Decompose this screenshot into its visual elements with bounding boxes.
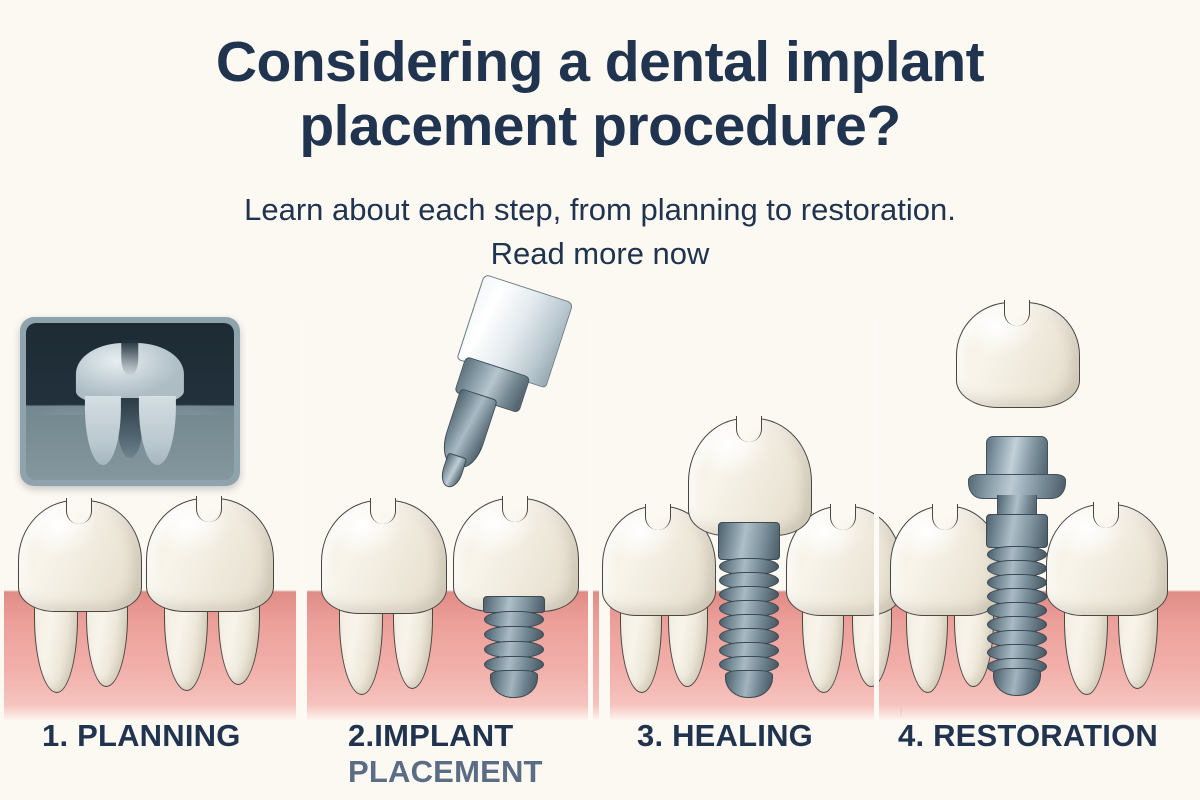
subhead-line-1: Learn about each step, from planning to … xyxy=(244,192,956,227)
headline-line-2: placement procedure? xyxy=(0,94,1200,158)
implant-screw xyxy=(483,596,545,700)
page-subtitle: Learn about each step, from planning to … xyxy=(0,188,1200,276)
panel-healing xyxy=(610,300,902,720)
natural-tooth-left xyxy=(321,500,445,612)
page-title: Considering a dental implant placement p… xyxy=(0,30,1200,158)
step-label-restoration: 4. RESTORATION xyxy=(898,718,1158,754)
implant-screw xyxy=(986,514,1048,696)
step-labels: 1. PLANNING 2.IMPLANT PLACEMENT 3. HEALI… xyxy=(0,718,1200,800)
step-label-line-1: 4. RESTORATION xyxy=(898,718,1158,753)
natural-tooth-left xyxy=(18,500,140,610)
panel-divider xyxy=(300,320,305,720)
step-label-healing: 3. HEALING xyxy=(637,718,813,754)
headline-line-1: Considering a dental implant xyxy=(216,30,984,94)
step-label-planning: 1. PLANNING xyxy=(42,718,241,754)
floating-crown xyxy=(956,302,1078,406)
step-label-line-1: 1. PLANNING xyxy=(42,718,241,753)
panel-planning xyxy=(4,300,296,720)
panel-implant-placement xyxy=(307,300,599,720)
panel-divider xyxy=(874,320,879,720)
natural-tooth-right xyxy=(146,498,272,610)
panel-divider xyxy=(588,320,593,720)
panel-restoration xyxy=(900,300,1200,720)
step-label-line-2: PLACEMENT xyxy=(348,754,543,790)
crown-tooth-right xyxy=(453,498,577,610)
infographic-canvas: Considering a dental implant placement p… xyxy=(0,0,1200,800)
implant-screw xyxy=(718,522,780,696)
subhead-line-2: Read more now xyxy=(0,232,1200,276)
crown-center xyxy=(688,418,810,534)
illustration-panels xyxy=(0,300,1200,720)
step-label-line-1: 3. HEALING xyxy=(637,718,813,753)
xray-tooth xyxy=(76,343,184,462)
dental-drill-icon xyxy=(399,278,529,488)
abutment xyxy=(968,436,1066,526)
xray-film-icon xyxy=(20,317,240,486)
step-label-implant-placement: 2.IMPLANT PLACEMENT xyxy=(348,718,543,790)
step-label-line-1: 2.IMPLANT xyxy=(348,718,513,753)
